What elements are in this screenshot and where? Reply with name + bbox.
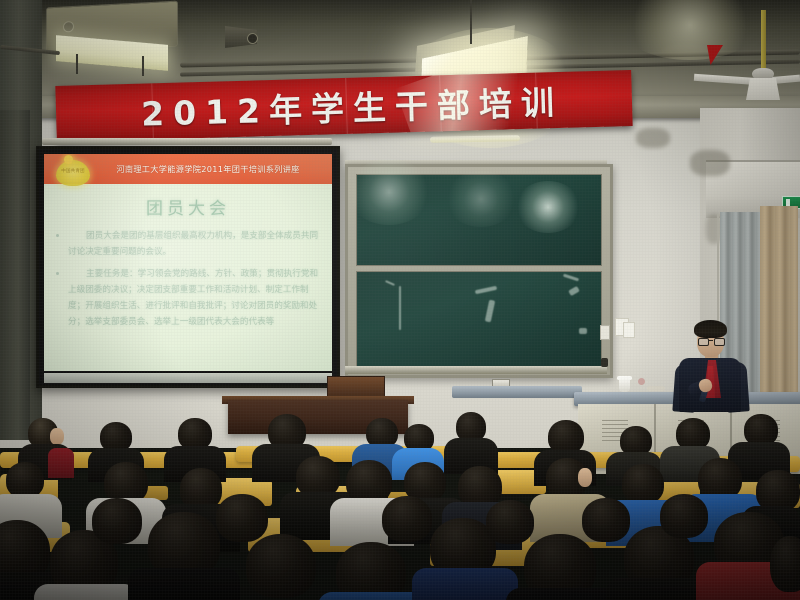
audience-torso [34,584,138,600]
projector-lens-icon [247,33,258,44]
audience-torso [48,448,74,478]
exit-figure-icon [786,199,790,206]
chalk-mark [475,286,497,294]
chalk-mark [385,280,395,286]
emblem-star-icon [64,155,73,164]
chalk-mark [485,300,495,323]
chalk-mark [579,328,587,334]
light-switch[interactable] [600,325,610,340]
wall-notice [623,322,635,338]
fan-light-shade [746,78,780,100]
chalk-mark [563,274,579,282]
slide-body: 团员大会是团的基层组织最高权力机构，是支部全体成员共同讨论决定重要问题的会议。 … [54,228,324,336]
lamp-hanger [470,0,472,44]
window-curtain [760,206,798,402]
lamp-hanger [142,56,144,76]
paper-cup [619,378,630,392]
lamp-hanger [76,54,78,74]
screen-bottom-bar [44,373,332,383]
audience-head [216,494,268,542]
side-counter-top [452,386,582,398]
audience-head [582,498,630,542]
wall-socket [601,358,608,367]
audience-head [548,420,584,454]
audience-head [486,500,534,544]
bridge [708,340,713,341]
blackboard-panel-upper [356,174,602,266]
audience-head [622,464,664,504]
glasses-icon [698,338,723,344]
slide-surface: 河南理工大学能源学院2011年团干培训系列讲座 中国共青团 团员大会 团员大会是… [44,154,332,371]
audience-torso [506,588,618,600]
audience-head [92,498,142,544]
left-pillar-inner [0,110,30,440]
audience-head [382,496,432,542]
slide-title: 团员大会 [44,194,332,219]
speaker-hair [694,320,727,338]
chalk-mark [399,286,401,330]
audience-head [6,462,44,498]
emblem-label: 中国共青团 [58,168,88,174]
audience-face [50,428,64,445]
lecture-hall-photo: 2012年学生干部培训 河南理工大学能源学院2011年团干培训系列讲座 中国共青… [0,0,800,600]
wall-stain [636,128,670,148]
audience-head [660,494,708,538]
chalk-mark [568,286,580,296]
audience-torso [412,568,518,600]
blackboard-panel-lower [356,271,602,368]
lens-right [714,338,725,346]
duct-fitting [63,21,74,33]
projection-screen: 河南理工大学能源学院2011年团干培训系列讲座 中国共青团 团员大会 团员大会是… [36,146,340,388]
desk-object [638,378,645,385]
audience-torso [128,568,240,600]
screen-roller [42,138,332,145]
slide-bullet: 主要任务是：学习领会党的路线、方针、政策；贯彻执行党和上级团委的决议；决定团支部… [54,266,324,330]
audience-head [770,536,800,592]
desk-object [647,386,665,391]
blackboard-light-reflection [515,181,581,233]
chalk-tray [345,366,607,374]
blackboard-light-reflection [347,159,431,225]
audience-face [578,468,592,487]
blackboard [345,164,613,378]
fan-downrod [761,10,766,70]
blackboard-light-reflection [445,171,517,227]
wall-stain [690,150,730,176]
slide-bullet: 团员大会是团的基层组织最高权力机构，是支部全体成员共同讨论决定重要问题的会议。 [54,228,324,260]
